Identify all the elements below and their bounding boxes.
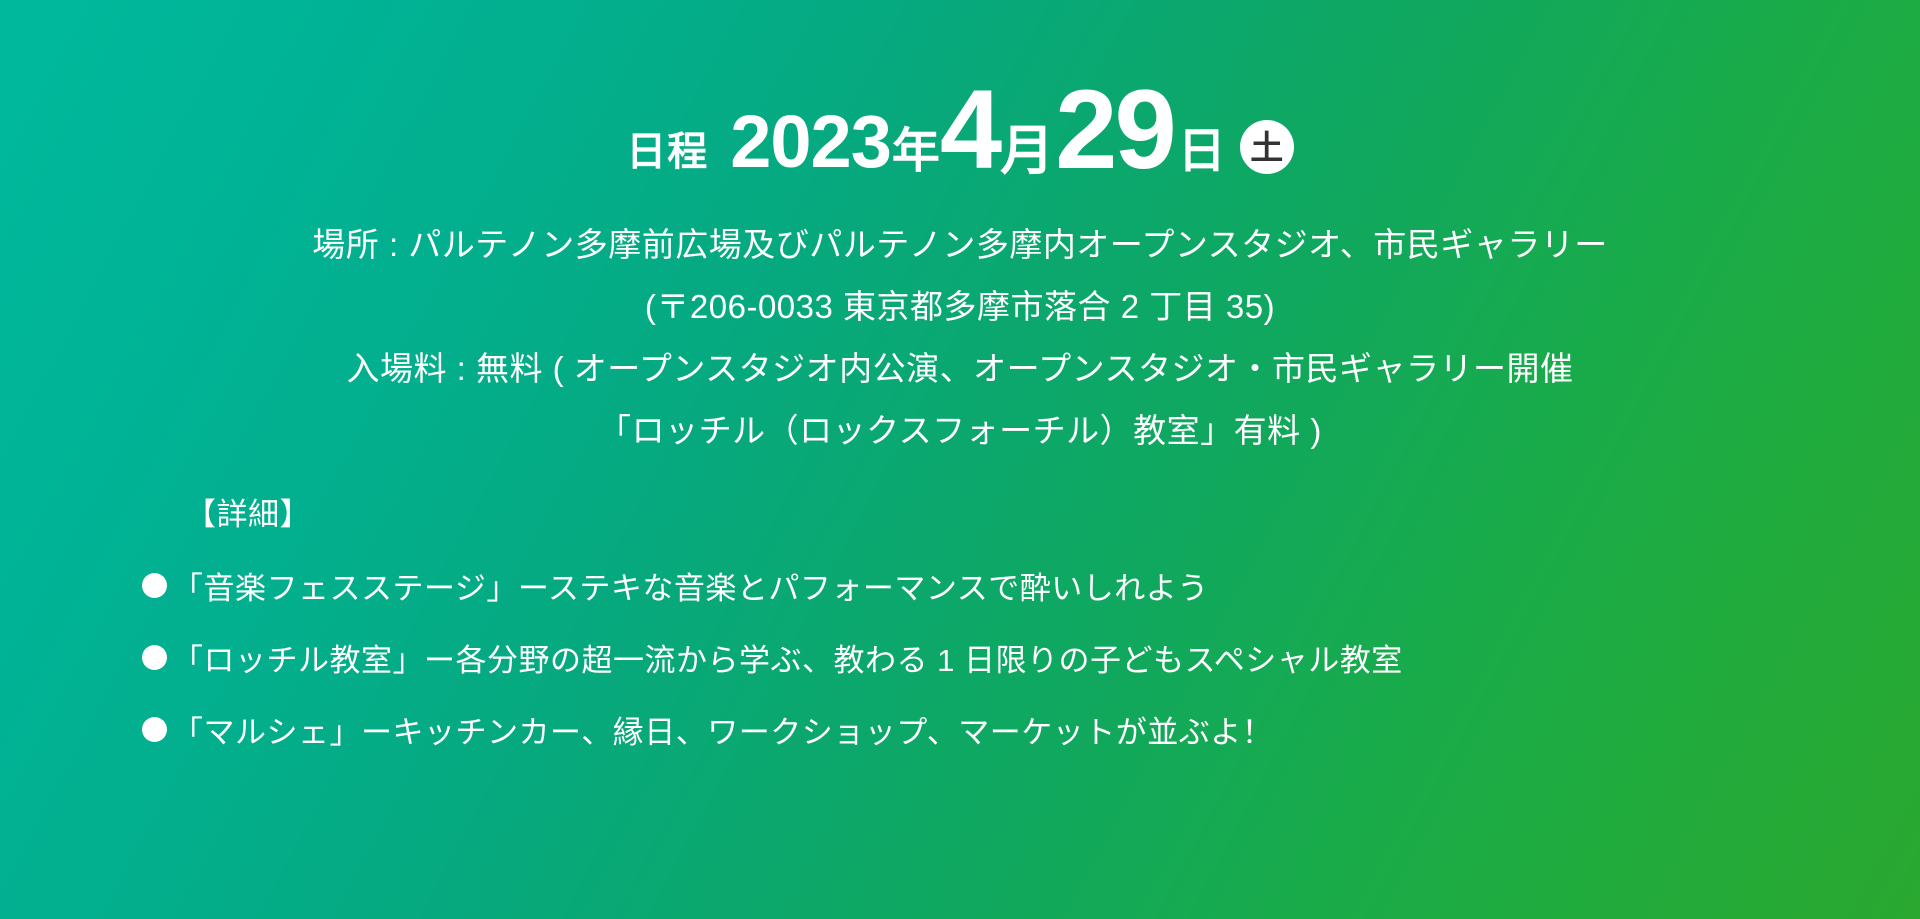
event-poster: 日程 2023 年 4 月 29 日 土 場所 : パルテノン多摩前広場及びパル… bbox=[0, 0, 1920, 919]
weekday-badge: 土 bbox=[1240, 120, 1294, 174]
event-info: 場所 : パルテノン多摩前広場及びパルテノン多摩内オープンスタジオ、市民ギャラリ… bbox=[0, 228, 1920, 447]
list-item: 「ロッチル教室」ー各分野の超一流から学ぶ、教わる 1 日限りの子どもスペシャル教… bbox=[142, 635, 1920, 680]
details-heading: 【詳細】 bbox=[185, 489, 1920, 534]
bullet-dot-icon bbox=[142, 645, 167, 670]
detail-item-label: 「音楽フェスステージ」ーステキな音楽とパフォーマンスで酔いしれよう bbox=[172, 563, 1209, 608]
info-line-admission-cont: 「ロッチル（ロックスフォーチル）教室」有料 ) bbox=[0, 414, 1920, 447]
date-month-number: 4 bbox=[940, 74, 999, 186]
info-line-admission: 入場料 : 無料 ( オープンスタジオ内公演、オープンスタジオ・市民ギャラリー開… bbox=[0, 352, 1920, 385]
detail-item-label: 「ロッチル教室」ー各分野の超一流から学ぶ、教わる 1 日限りの子どもスペシャル教… bbox=[172, 635, 1403, 680]
date-day-number: 29 bbox=[1055, 74, 1174, 186]
date-month-kanji: 月 bbox=[1000, 124, 1054, 186]
date-day-kanji: 日 bbox=[1178, 128, 1226, 186]
event-details: 【詳細】 「音楽フェスステージ」ーステキな音楽とパフォーマンスで酔いしれよう 「… bbox=[0, 489, 1920, 752]
date-year: 2023 bbox=[730, 105, 891, 186]
info-line-venue: 場所 : パルテノン多摩前広場及びパルテノン多摩内オープンスタジオ、市民ギャラリ… bbox=[0, 228, 1920, 261]
date-label: 日程 bbox=[626, 132, 708, 186]
list-item: 「音楽フェスステージ」ーステキな音楽とパフォーマンスで酔いしれよう bbox=[142, 563, 1920, 608]
bullet-dot-icon bbox=[142, 717, 167, 742]
detail-item-label: 「マルシェ」ーキッチンカー、縁日、ワークショップ、マーケットが並ぶよ！ bbox=[172, 707, 1273, 752]
date-year-kanji: 年 bbox=[892, 128, 940, 186]
bullet-dot-icon bbox=[142, 573, 167, 598]
info-line-address: (〒206-0033 東京都多摩市落合 2 丁目 35) bbox=[0, 290, 1920, 323]
event-date-headline: 日程 2023 年 4 月 29 日 土 bbox=[626, 74, 1294, 186]
list-item: 「マルシェ」ーキッチンカー、縁日、ワークショップ、マーケットが並ぶよ！ bbox=[142, 707, 1920, 752]
